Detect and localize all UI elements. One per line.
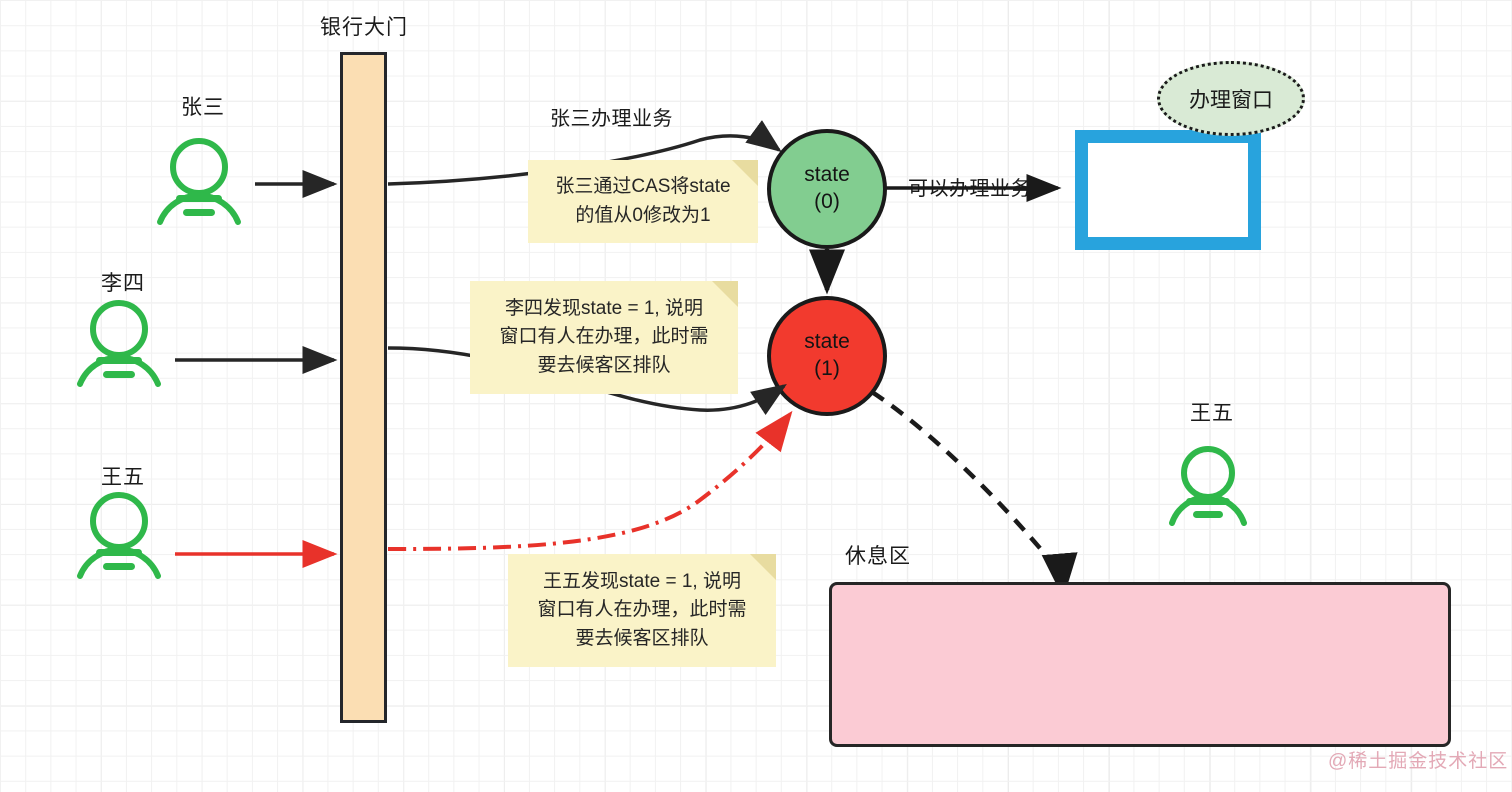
rest-area-label: 休息区: [845, 545, 911, 569]
person-label-lisi-left: 李四: [101, 272, 145, 296]
window-callout-bubble: 办理窗口: [1157, 61, 1305, 136]
rest-area-box: [829, 582, 1451, 747]
note-lisi-line-1: 李四发现state = 1, 说明: [499, 295, 708, 324]
bank-door-bar: [340, 52, 387, 723]
person-label-wangwu-right: 王五: [1190, 402, 1234, 426]
note-lisi-line-3: 要去候客区排队: [499, 352, 708, 381]
edge-label-zhangsan-service: 张三办理业务: [550, 108, 673, 131]
state-0-line1: state: [777, 162, 877, 189]
note-wangwu-line-2: 窗口有人在办理，此时需: [537, 596, 746, 625]
note-fold-corner-icon: [712, 281, 738, 307]
state-1-line2: (1): [777, 356, 877, 383]
note-wangwu-discover: 王五发现state = 1, 说明 窗口有人在办理，此时需 要去候客区排队: [508, 554, 776, 667]
note-wangwu-line-1: 王五发现state = 1, 说明: [537, 568, 746, 597]
person-icon-wangwu-left: [80, 495, 158, 576]
note-zhangsan-cas: 张三通过CAS将state 的值从0修改为1: [528, 160, 758, 243]
teller-window-box[interactable]: [1075, 130, 1261, 250]
note-wangwu-line-3: 要去候客区排队: [537, 625, 746, 654]
note-lisi-line-2: 窗口有人在办理，此时需: [499, 323, 708, 352]
person-label-zhangsan-left: 张三: [181, 96, 225, 120]
state-0-circle[interactable]: [769, 131, 885, 247]
person-icon-wangwu-right: [1172, 449, 1244, 523]
diagram-canvas: 银行大门 张三 李四 王五 王五 head 李四 张三办理业务 可以办理业务 s…: [0, 0, 1512, 792]
note-lisi-discover: 李四发现state = 1, 说明 窗口有人在办理，此时需 要去候客区排队: [470, 281, 738, 394]
person-icon-lisi-left: [80, 303, 158, 384]
note-fold-corner-icon: [750, 554, 776, 580]
bank-door-label: 银行大门: [320, 16, 408, 40]
state-1-line1: state: [777, 329, 877, 356]
note-zhangsan-line-1: 张三通过CAS将state: [555, 173, 730, 202]
window-callout-label: 办理窗口: [1189, 84, 1273, 114]
state-0-label: state (0): [777, 162, 877, 216]
person-label-wangwu-left: 王五: [101, 466, 145, 490]
person-icon-zhangsan-left: [160, 141, 238, 222]
note-fold-corner-icon: [732, 160, 758, 186]
watermark-label: @稀土掘金技术社区: [1328, 746, 1508, 773]
edge-label-can-serve: 可以办理业务: [908, 178, 1031, 201]
edge-wangwu-curve: [388, 414, 790, 549]
state-0-line2: (0): [777, 189, 877, 216]
state-1-circle[interactable]: [769, 298, 885, 414]
state-1-label: state (1): [777, 329, 877, 383]
note-zhangsan-line-2: 的值从0修改为1: [555, 202, 730, 231]
